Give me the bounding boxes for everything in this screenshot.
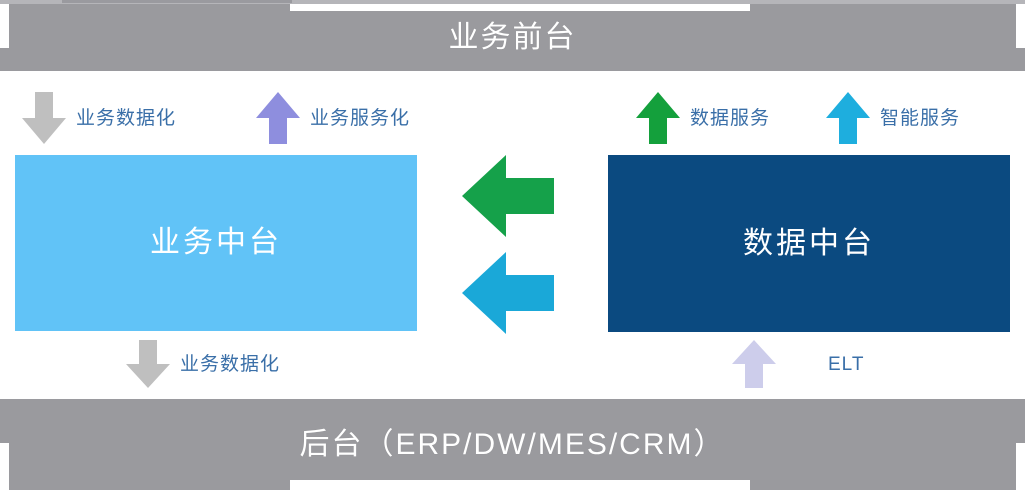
data-middle-platform-label: 数据中台 xyxy=(743,229,875,259)
flow-label-data-service: 数据服务 xyxy=(690,109,770,128)
arrow-down-gray-lower-icon xyxy=(126,340,170,388)
arrow-down-gray-icon xyxy=(22,92,66,144)
banner-bottom-mid-notch xyxy=(290,480,750,490)
flow-label-business-servitization: 业务服务化 xyxy=(310,109,410,128)
flow-business-datafication-down: 业务数据化 xyxy=(22,92,176,144)
data-middle-platform-box: 数据中台 xyxy=(608,155,1010,332)
banner-top-mid-notch xyxy=(290,4,750,11)
data-to-business-arrow xyxy=(462,155,554,237)
flow-business-servitization-up: 业务服务化 xyxy=(256,92,410,144)
banner-bottom-right-notch xyxy=(1016,443,1025,490)
arrow-up-cyan-icon xyxy=(826,92,870,144)
banner-top-left-notch xyxy=(0,4,9,48)
arrow-up-green-icon xyxy=(636,92,680,144)
flow-label-elt: ELT xyxy=(828,355,864,374)
flow-label-business-datafication: 业务数据化 xyxy=(76,109,176,128)
business-middle-platform-box: 业务中台 xyxy=(15,155,417,331)
business-middle-platform-label: 业务中台 xyxy=(150,228,282,258)
top-edge-artifact-secondary xyxy=(62,0,292,3)
arrow-up-lavender-icon xyxy=(732,340,776,388)
flow-business-datafication-down-lower: 业务数据化 xyxy=(126,340,280,388)
intelligence-to-business-arrow xyxy=(462,252,554,334)
flow-data-service-up: 数据服务 xyxy=(636,92,770,144)
arrow-up-purple-icon xyxy=(256,92,300,144)
flow-label-business-datafication-lower: 业务数据化 xyxy=(180,355,280,374)
back-office-banner: 后台（ERP/DW/MES/CRM） xyxy=(0,399,1025,490)
front-office-banner: 业务前台 xyxy=(0,4,1025,71)
flow-elt-up: ELT xyxy=(732,340,864,388)
flow-intelligent-service-up: 智能服务 xyxy=(826,92,960,144)
back-office-label: 后台（ERP/DW/MES/CRM） xyxy=(300,430,726,460)
banner-top-right-notch xyxy=(1016,4,1025,48)
flow-label-intelligent-service: 智能服务 xyxy=(880,109,960,128)
banner-bottom-left-notch xyxy=(0,443,9,490)
diagram-canvas: 业务前台 业务数据化 业务服务化 数据服务 xyxy=(0,0,1025,500)
front-office-label: 业务前台 xyxy=(449,23,577,53)
